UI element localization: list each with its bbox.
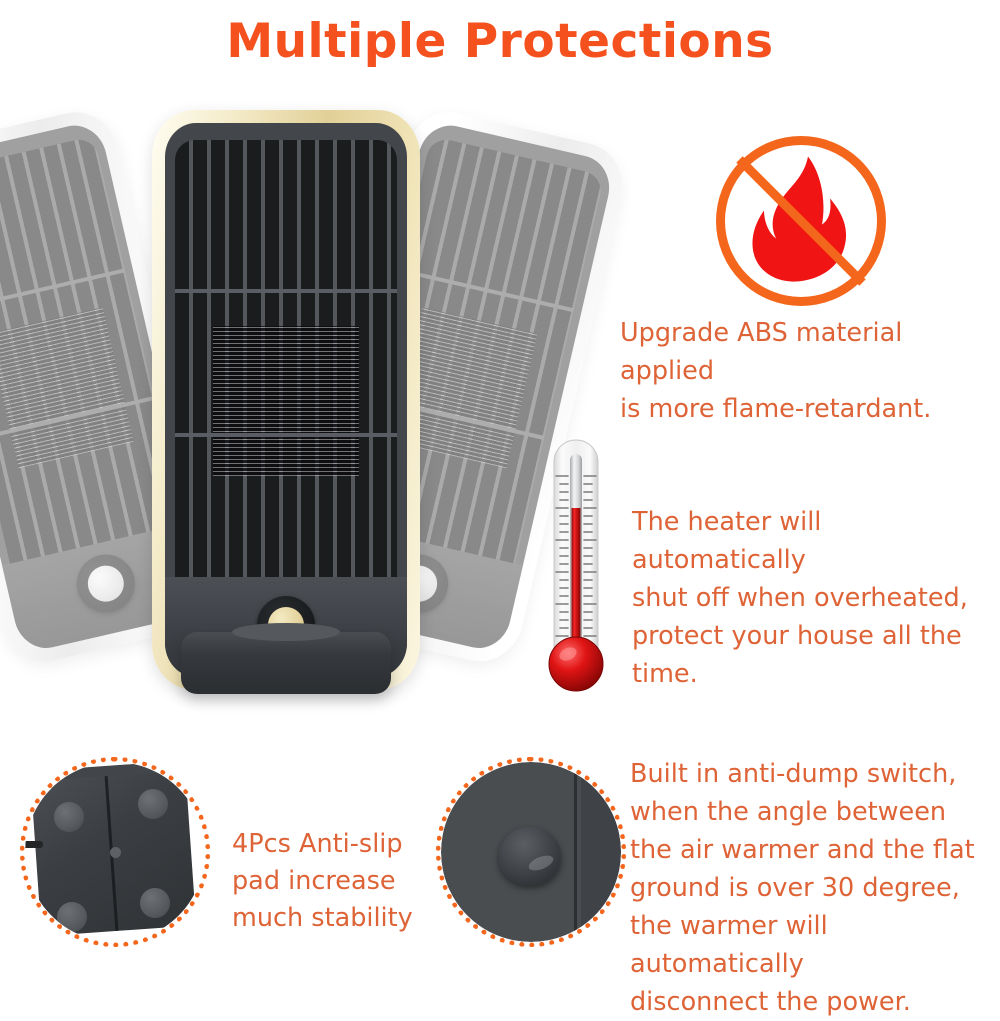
anti-slip-pad-4: [140, 888, 170, 918]
product-main-unit: [152, 110, 420, 690]
feature-text-flame-retardant: Upgrade ABS material applied is more fla…: [620, 314, 1000, 428]
switch-panel-edge-line: [574, 762, 577, 942]
product-base-collar: [232, 623, 341, 641]
base-pads-photo: [25, 762, 205, 942]
product-grille-band-1: [175, 289, 398, 293]
ghost-left-heating-mesh: [0, 308, 133, 468]
switch-panel-side: [581, 762, 621, 942]
inset-anti-dump-switch: [436, 757, 626, 947]
page-title: Multiple Protections: [0, 14, 1000, 69]
product-grille: [175, 140, 398, 583]
feature-text-anti-slip-pad: 4Pcs Anti-slip pad increase much stabili…: [232, 826, 422, 937]
product-illustration: [0, 95, 520, 755]
product-bezel: [152, 110, 420, 690]
power-cord: [25, 841, 43, 848]
no-fire-icon: [716, 136, 886, 306]
base-screw-dot: [110, 847, 121, 858]
anti-slip-pad-1: [54, 802, 84, 832]
switch-knob-highlight: [527, 853, 556, 874]
feature-text-anti-dump-switch: Built in anti-dump switch, when the angl…: [630, 755, 1000, 1021]
product-front-face: [165, 123, 407, 677]
anti-dump-switch-knob: [499, 827, 561, 885]
ghost-left-knob-inner: [84, 562, 127, 605]
infographic-canvas: Multiple Protections: [0, 0, 1000, 1000]
inset-anti-slip-pads: [20, 757, 210, 947]
thermometer-icon: [544, 432, 608, 698]
product-heating-element-mesh: [213, 326, 360, 477]
product-base: [181, 632, 390, 694]
product-grille-band-2: [175, 433, 398, 437]
anti-dump-switch-photo: [441, 762, 621, 942]
feature-text-overheat-protection: The heater will automatically shut off w…: [632, 503, 992, 693]
